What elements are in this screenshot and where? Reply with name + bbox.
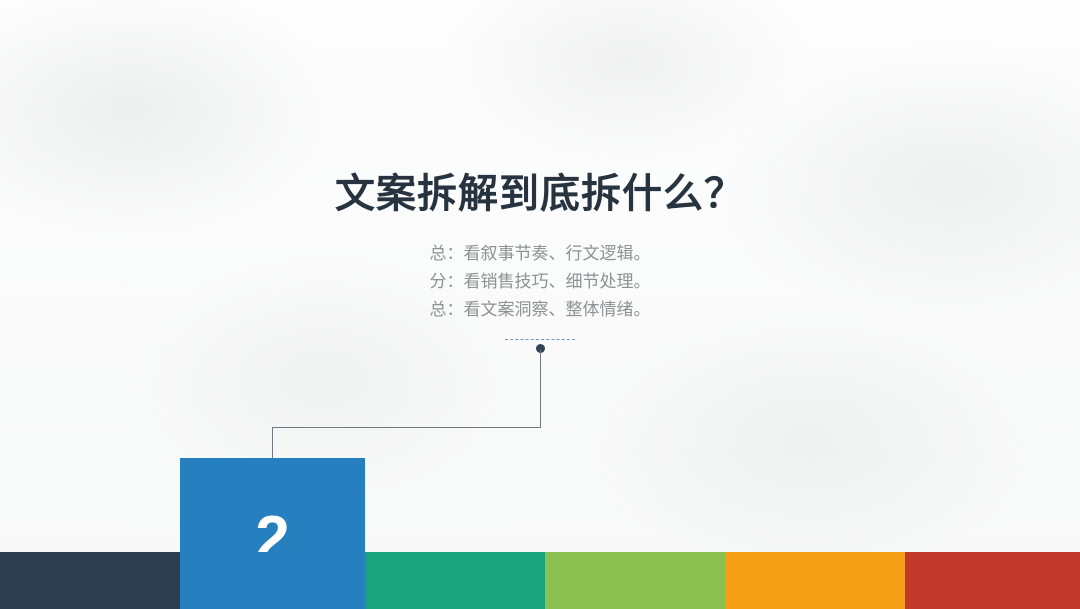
connector-segment-vertical-top [540, 350, 541, 428]
subtitle-line-3: 总：看文案洞察、整体情绪。 [0, 296, 1080, 324]
bottom-color-bar [0, 552, 1080, 609]
subtitle-line-1: 总：看叙事节奏、行文逻辑。 [0, 240, 1080, 268]
slide: 文案拆解到底拆什么？ 总：看叙事节奏、行文逻辑。 分：看销售技巧、细节处理。 总… [0, 0, 1080, 609]
color-bar-segment-red [905, 552, 1080, 609]
color-bar-segment-light-green [545, 552, 725, 609]
subtitle-block: 总：看叙事节奏、行文逻辑。 分：看销售技巧、细节处理。 总：看文案洞察、整体情绪… [0, 240, 1080, 324]
color-bar-segment-blue [180, 552, 365, 609]
subtitle-line-2: 分：看销售技巧、细节处理。 [0, 268, 1080, 296]
color-bar-segment-orange [725, 552, 905, 609]
page-title: 文案拆解到底拆什么？ [0, 170, 1080, 218]
color-bar-segment-dark-navy [0, 552, 180, 609]
dashed-divider [505, 339, 575, 340]
connector-segment-horizontal [272, 427, 541, 428]
color-bar-segment-teal-green [365, 552, 545, 609]
